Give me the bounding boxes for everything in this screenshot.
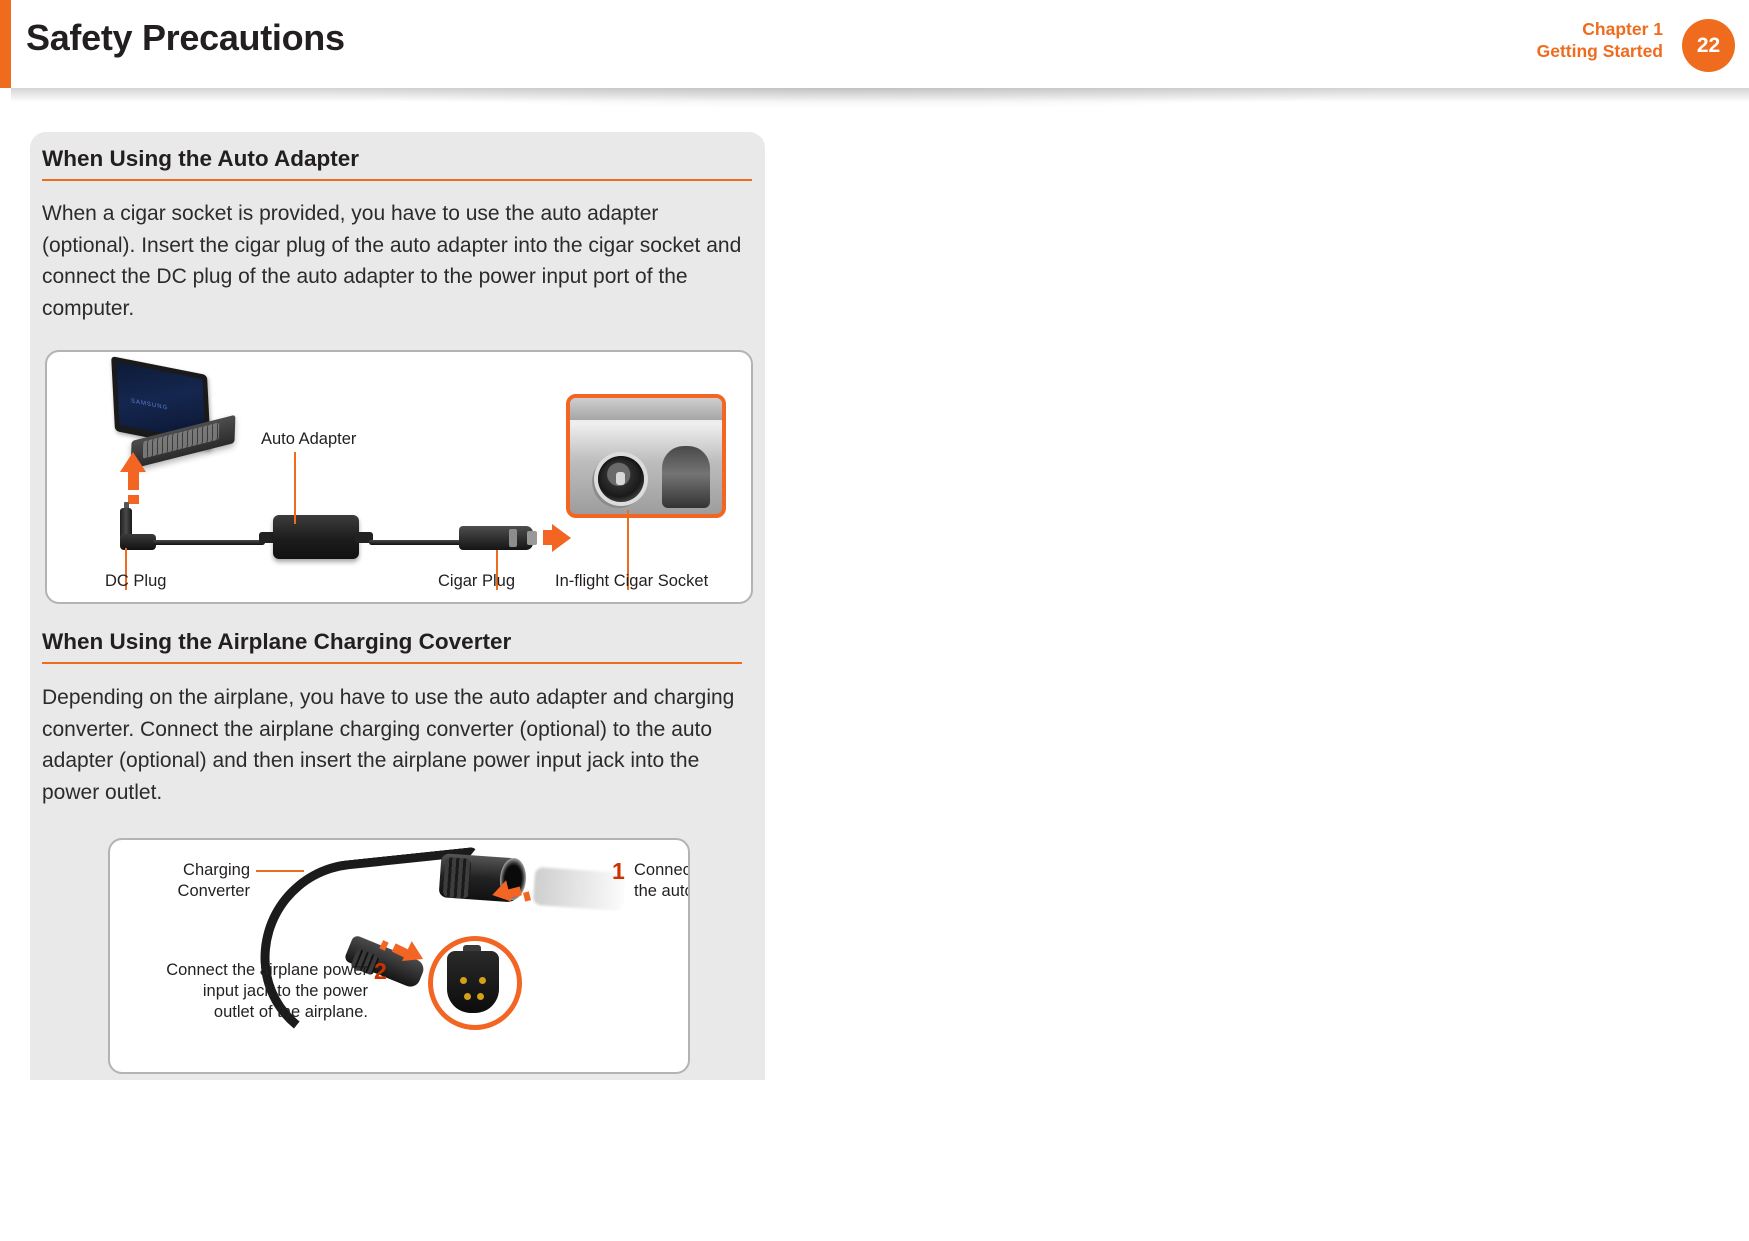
section-body-auto-adapter: When a cigar socket is provided, you hav… bbox=[42, 198, 752, 324]
connect-arrow-left-stem bbox=[507, 887, 522, 899]
section-heading-airplane-converter: When Using the Airplane Charging Coverte… bbox=[42, 629, 742, 662]
callout-number-2: 2 bbox=[374, 958, 387, 985]
header-divider-shadow-soft bbox=[300, 88, 1400, 110]
label-cigar-plug: Cigar Plug bbox=[438, 572, 515, 591]
figure-charging-converter-diagram: Charging Converter 1 Connect this end to… bbox=[108, 838, 690, 1074]
connect-arrow-left-dash bbox=[523, 891, 531, 901]
connect-arrow-up-stem bbox=[128, 470, 139, 490]
section-body-airplane-converter: Depending on the airplane, you have to u… bbox=[42, 682, 742, 808]
laptop-illustration: SAMSUNG bbox=[109, 366, 239, 462]
label-charging-converter: Charging Converter bbox=[138, 860, 250, 902]
figure-auto-adapter-diagram: SAMSUNG Auto Adapter DC Plug bbox=[45, 350, 753, 604]
outlet-pin-bottom-left bbox=[464, 993, 471, 1000]
connect-arrow-up-icon bbox=[120, 452, 146, 472]
auto-adapter-box bbox=[273, 515, 359, 559]
section-auto-adapter: When Using the Auto Adapter When a cigar… bbox=[42, 146, 752, 324]
cigar-plug-contact-band bbox=[509, 529, 517, 547]
label-auto-adapter: Auto Adapter bbox=[261, 430, 356, 449]
section-heading-auto-adapter: When Using the Auto Adapter bbox=[42, 146, 752, 179]
connect-arrow-right-stem bbox=[543, 530, 552, 545]
cigar-plug-tip bbox=[527, 531, 537, 545]
socket-panel-strip bbox=[570, 398, 722, 420]
outlet-body bbox=[447, 951, 499, 1013]
outlet-pin-left bbox=[460, 977, 467, 984]
airplane-power-outlet-closeup bbox=[428, 936, 522, 1030]
callout-1-line1: Connect this end to bbox=[634, 860, 690, 881]
section-rule-2 bbox=[42, 662, 742, 664]
cable-adapter-to-cigar bbox=[369, 540, 465, 545]
outlet-pin-right bbox=[479, 977, 486, 984]
socket-adjacent-port bbox=[662, 446, 710, 508]
label-charging-converter-line1: Charging bbox=[138, 860, 250, 881]
connect-arrow-up-dash bbox=[128, 495, 139, 504]
callout-text-1: Connect this end to the auto adapter. bbox=[634, 860, 690, 902]
converter-socket-grip-rings bbox=[443, 857, 472, 899]
label-charging-converter-line2: Converter bbox=[138, 881, 250, 902]
outlet-pin-bottom-right bbox=[477, 993, 484, 1000]
label-dc-plug: DC Plug bbox=[105, 572, 166, 591]
cigar-plug-body bbox=[459, 526, 533, 550]
socket-center-pin bbox=[616, 472, 625, 485]
section-rule bbox=[42, 179, 752, 181]
leader-charging-converter bbox=[256, 870, 304, 872]
in-flight-cigar-socket-photo bbox=[566, 394, 726, 518]
content-panel: When Using the Auto Adapter When a cigar… bbox=[30, 132, 765, 1080]
chapter-name-label: Getting Started bbox=[1537, 40, 1663, 62]
callout-number-1: 1 bbox=[612, 858, 625, 885]
section-airplane-charging-converter: When Using the Airplane Charging Coverte… bbox=[42, 629, 742, 808]
header-accent-bar bbox=[0, 0, 11, 88]
callout-text-2: Connect the airplane power input jack to… bbox=[126, 960, 368, 1023]
page-number-badge: 22 bbox=[1682, 19, 1735, 72]
cable-dc-to-adapter bbox=[153, 540, 265, 545]
connect-arrow-right-icon bbox=[552, 524, 571, 552]
callout-1-line2: the auto adapter. bbox=[634, 881, 690, 902]
callout-2-line1: Connect the airplane power bbox=[126, 960, 368, 981]
page-title: Safety Precautions bbox=[26, 17, 345, 59]
label-in-flight-cigar-socket: In-flight Cigar Socket bbox=[555, 572, 708, 591]
callout-2-line2: input jack to the power bbox=[126, 981, 368, 1002]
chapter-indicator: Chapter 1 Getting Started bbox=[1537, 18, 1663, 62]
leader-auto-adapter bbox=[294, 452, 296, 524]
callout-2-line3: outlet of the airplane. bbox=[126, 1002, 368, 1023]
page-header: Safety Precautions Chapter 1 Getting Sta… bbox=[0, 0, 1749, 88]
chapter-number-label: Chapter 1 bbox=[1537, 18, 1663, 40]
